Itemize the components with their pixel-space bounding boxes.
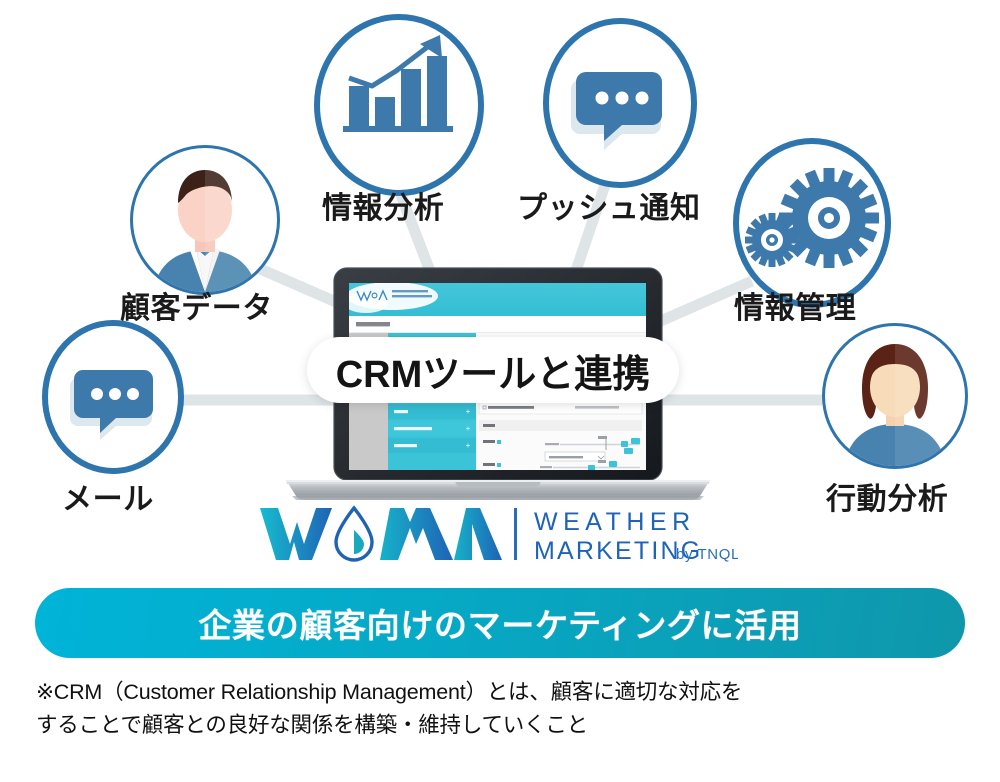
node-customer-data[interactable] [133, 148, 277, 292]
node-label-information-analysis: 情報分析 [322, 183, 444, 227]
logo-text-weather: WEATHER [534, 508, 696, 536]
logo-mark-m [380, 508, 502, 560]
svg-text:+: + [466, 441, 471, 450]
node-label-behavior-analysis: 行動分析 [826, 474, 948, 518]
node-mail[interactable] [45, 323, 181, 471]
svg-text:+: + [466, 407, 471, 416]
node-information-management[interactable] [734, 141, 900, 305]
male-avatar-icon [133, 148, 277, 292]
node-information-analysis[interactable] [317, 17, 481, 193]
logo-mark-water-drop [336, 508, 372, 560]
svg-text:+: + [466, 424, 471, 433]
footnote-line-1: ※CRM（Customer Relationship Management）とは… [36, 676, 966, 709]
node-behavior-analysis[interactable] [825, 326, 965, 468]
node-label-information-management: 情報管理 [734, 283, 856, 327]
center-callout-pill: CRMツールと連携 [307, 337, 679, 403]
infographic-root: + + + + + + + [0, 0, 1000, 782]
wom-weather-marketing-logo: WEATHER MARKETING by TNQL [258, 504, 738, 564]
highlight-banner: 企業の顧客向けのマーケティングに活用 [35, 588, 965, 658]
footnote-line-2: することで顧客との良好な関係を構築・維持していくこと [36, 709, 966, 742]
node-label-mail: メール [62, 474, 154, 518]
footnote: ※CRM（Customer Relationship Management）とは… [36, 676, 966, 743]
center-callout-label: CRMツールと連携 [336, 343, 651, 398]
logo-text-byline: by TNQL [676, 546, 738, 563]
logo-mark-w [260, 508, 332, 560]
highlight-banner-text: 企業の顧客向けのマーケティングに活用 [198, 599, 801, 647]
node-label-customer-data: 顧客データ [120, 283, 273, 327]
node-push-notification[interactable] [546, 21, 694, 185]
logo-divider [514, 508, 517, 560]
node-label-push-notification: プッシュ通知 [517, 183, 701, 227]
